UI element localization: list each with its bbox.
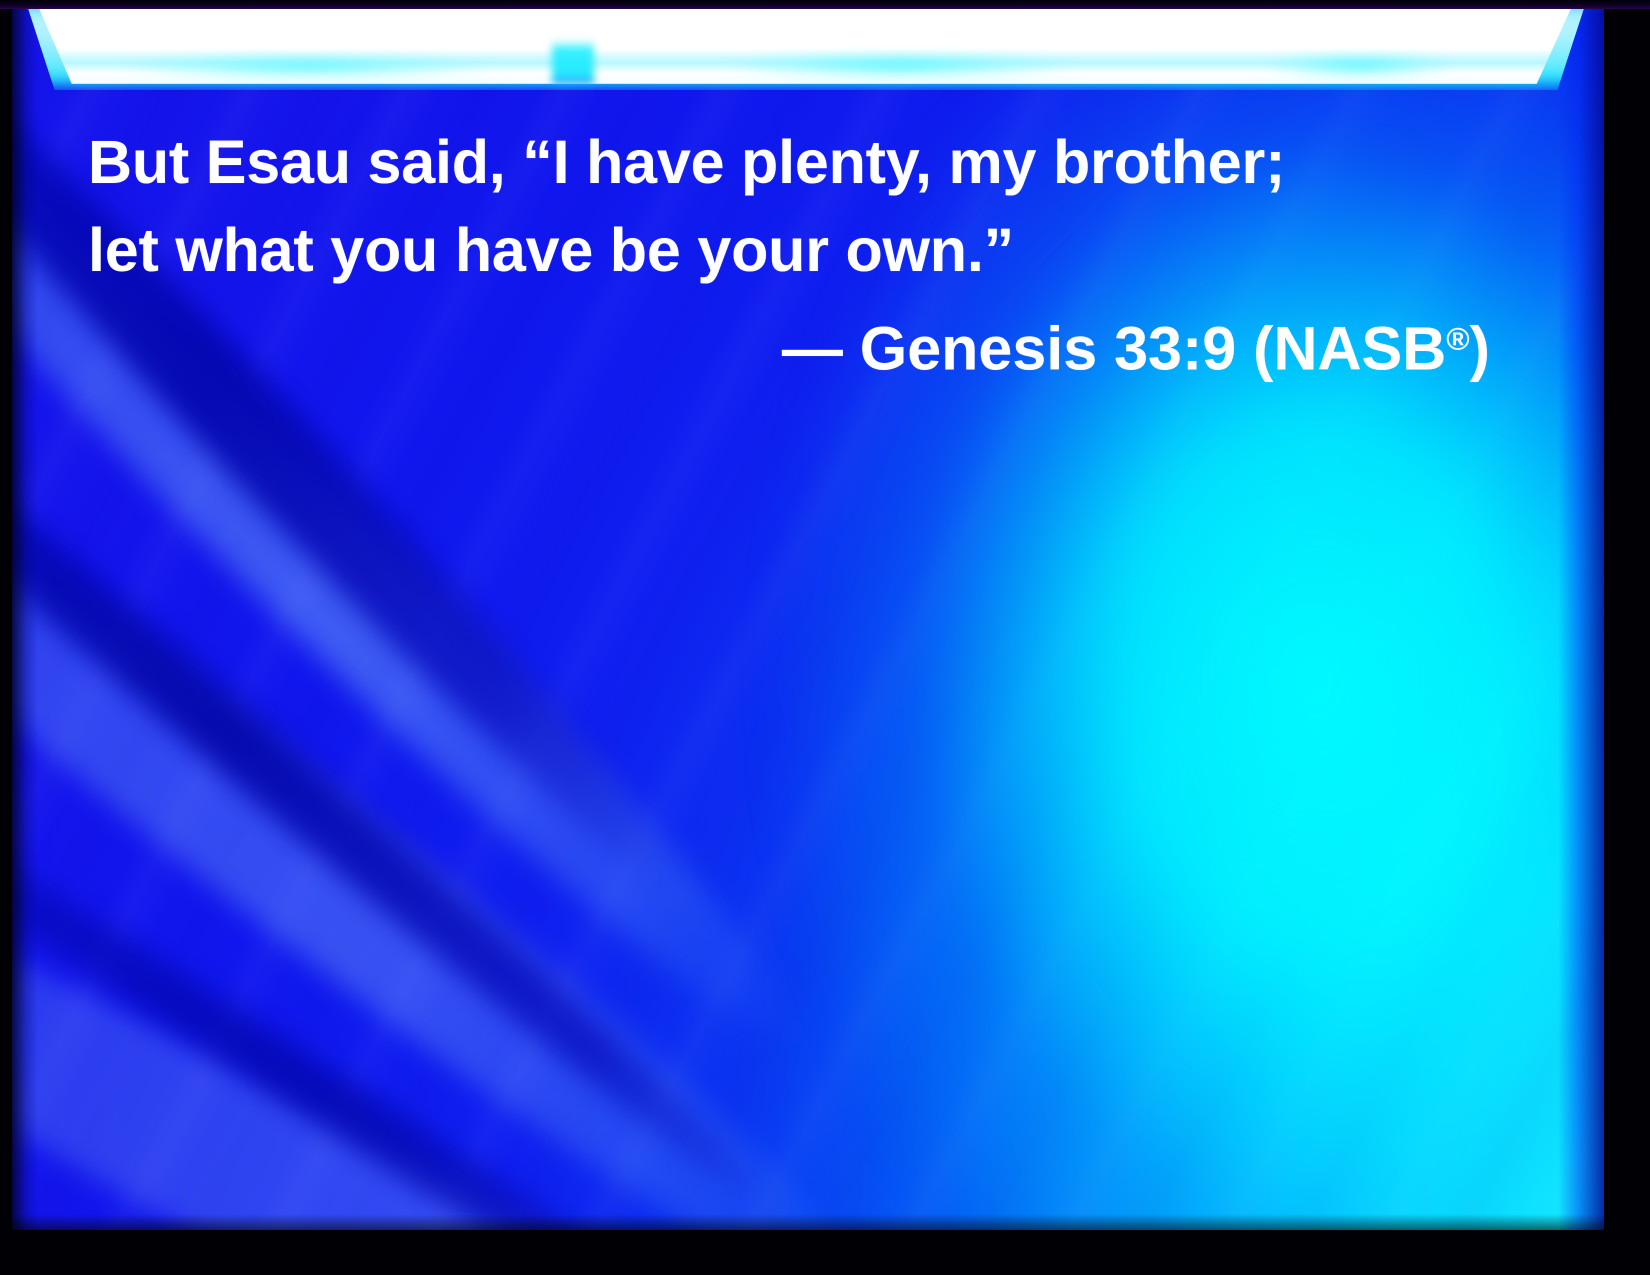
banner-top-hairline [0, 0, 1650, 9]
banner-cyan-spot-left [110, 56, 500, 78]
background-left-edge-shadow [12, 6, 38, 1230]
verse-reference-tail: ) [1470, 315, 1490, 383]
verse-slide: But Esau said, “I have plenty, my brothe… [0, 0, 1650, 1275]
verse-line-2: let what you have be your own.” [88, 206, 1508, 294]
top-banner [20, 8, 1590, 84]
banner-center-notch [552, 40, 594, 84]
registered-trademark-icon: ® [1446, 321, 1469, 357]
banner-cyan-spot-right [1260, 55, 1460, 77]
background-bottom-edge-shadow [12, 1214, 1604, 1230]
verse-text-block: But Esau said, “I have plenty, my brothe… [88, 118, 1508, 394]
verse-line-1: But Esau said, “I have plenty, my brothe… [88, 118, 1508, 206]
background-right-edge-shadow [1558, 6, 1604, 1230]
slide-black-frame: But Esau said, “I have plenty, my brothe… [0, 0, 1650, 1275]
verse-reference: — Genesis 33:9 (NASB®) [88, 294, 1508, 394]
verse-reference-main: — Genesis 33:9 (NASB [782, 315, 1446, 383]
banner-cyan-spot-center [720, 54, 1080, 78]
